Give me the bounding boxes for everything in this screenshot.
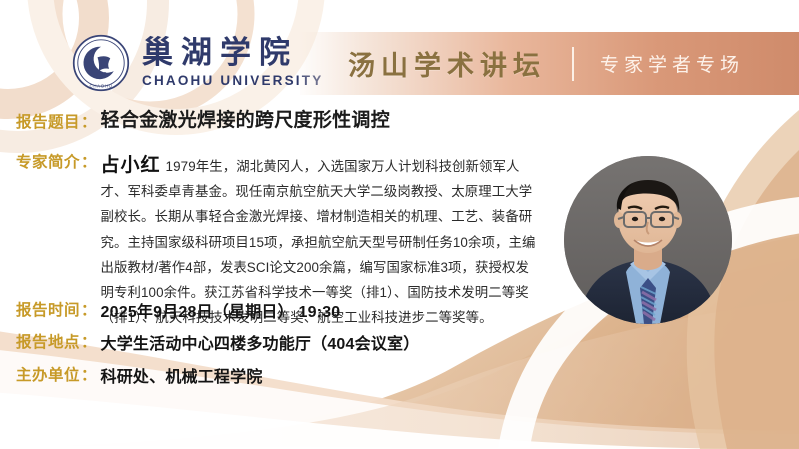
report-title-colon: ： bbox=[80, 110, 98, 132]
report-place-value: 大学生活动中心四楼多功能厅（404会议室） bbox=[101, 330, 420, 354]
organizer-value: 科研处、机械工程学院 bbox=[101, 363, 263, 387]
report-time-label: 报告时间 bbox=[16, 298, 80, 320]
organizer-label: 主办单位 bbox=[16, 363, 80, 385]
organizer-row: 主办单位 ： 科研处、机械工程学院 bbox=[16, 363, 263, 387]
seminar-poster: 1977 CHAOHU 巢湖学院 CHAOHU UNIVERSITY 汤山学术讲… bbox=[0, 0, 799, 449]
speaker-bio-label: 专家简介 bbox=[16, 150, 80, 172]
report-place-colon: ： bbox=[80, 330, 98, 352]
organizer-colon: ： bbox=[80, 363, 98, 385]
speaker-bio-colon: ： bbox=[80, 150, 98, 172]
speaker-portrait bbox=[564, 156, 732, 324]
report-time-row: 报告时间 ： 2025年9月28日（星期日） 19:30 bbox=[16, 298, 340, 322]
report-time-colon: ： bbox=[80, 298, 98, 320]
report-place-label: 报告地点 bbox=[16, 330, 80, 352]
report-title-row: 报告题目 ： 轻合金激光焊接的跨尺度形性调控 bbox=[16, 110, 390, 133]
report-title-label: 报告题目 bbox=[16, 110, 80, 132]
report-time-value: 2025年9月28日（星期日） 19:30 bbox=[101, 298, 341, 322]
speaker-name: 占小红 bbox=[101, 155, 161, 176]
report-place-row: 报告地点 ： 大学生活动中心四楼多功能厅（404会议室） bbox=[16, 330, 419, 354]
report-title-value: 轻合金激光焊接的跨尺度形性调控 bbox=[101, 110, 391, 133]
speaker-portrait-image bbox=[564, 156, 732, 324]
